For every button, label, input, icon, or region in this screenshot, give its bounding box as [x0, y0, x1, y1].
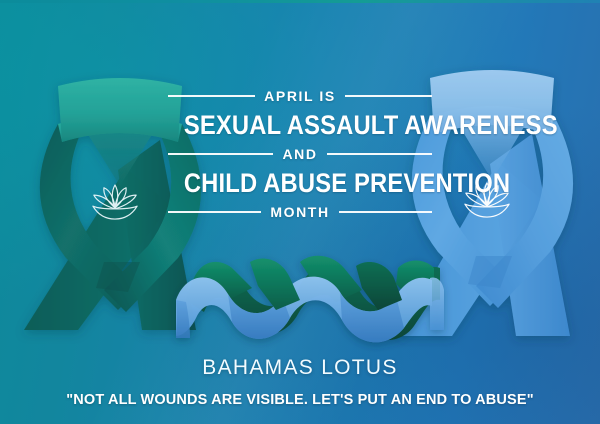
tagline-text: "NOT ALL WOUNDS ARE VISIBLE. LET'S PUT A… [0, 392, 600, 408]
and-row: AND [168, 146, 432, 162]
month-row: MONTH [168, 204, 432, 220]
april-is-label: APRIL IS [264, 88, 336, 104]
divider-left [168, 211, 261, 213]
headline-sexual-assault-awareness: SEXUAL ASSAULT AWARENESS [184, 111, 416, 139]
and-label: AND [282, 146, 317, 162]
divider-right [327, 153, 432, 155]
interwoven-ribbon-band [176, 256, 444, 343]
divider-left [168, 153, 273, 155]
awareness-poster: APRIL IS SEXUAL ASSAULT AWARENESS AND CH… [0, 0, 600, 424]
month-label: MONTH [270, 204, 329, 220]
weave-right-endcap [430, 278, 444, 331]
teal-ribbon-loop-top-face [58, 78, 182, 142]
poster-footer: BAHAMAS LOTUS "NOT ALL WOUNDS ARE VISIBL… [0, 356, 600, 408]
headline-child-abuse-prevention: CHILD ABUSE PREVENTION [184, 169, 416, 197]
headline-block: APRIL IS SEXUAL ASSAULT AWARENESS AND CH… [168, 88, 432, 220]
organization-name: BAHAMAS LOTUS [0, 356, 600, 380]
divider-left [168, 95, 255, 97]
april-is-row: APRIL IS [168, 88, 432, 104]
divider-right [339, 211, 432, 213]
divider-right [345, 95, 432, 97]
